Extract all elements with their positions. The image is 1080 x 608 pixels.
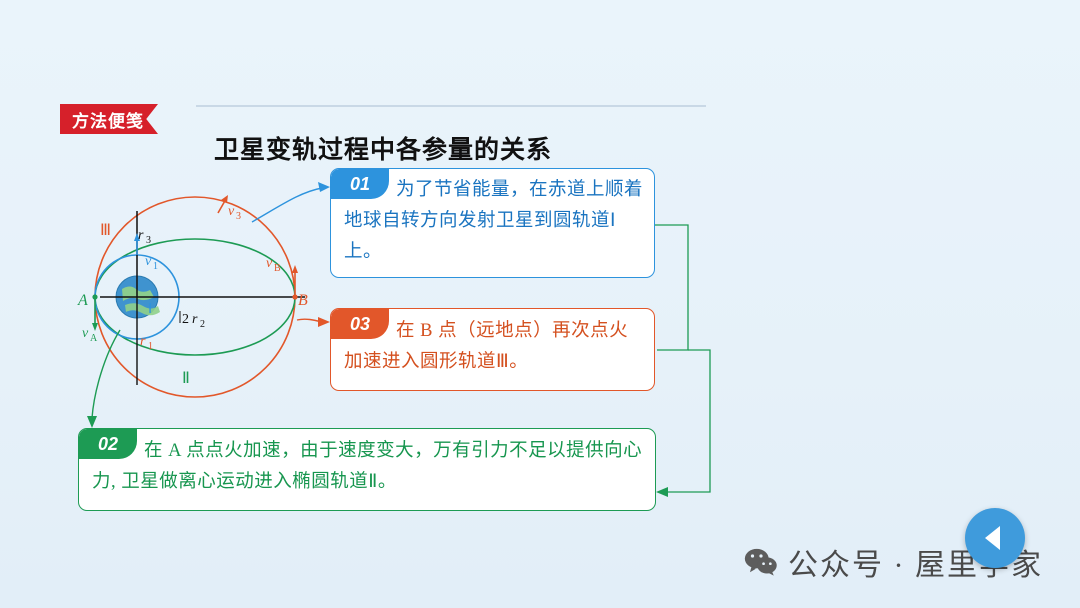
svg-text:Ⅰ: Ⅰ (148, 302, 152, 317)
svg-text:v: v (266, 256, 273, 271)
satellite-orbit-diagram: Ⅲ r 3 v 1 v 3 v B A B v A Ⅰ Ⅱ r 1 2 r 2 (70, 185, 350, 405)
callout-02: 02 在 A 点点火加速，由于速度变大，万有引力不足以提供向心力, 卫星做离心运… (78, 428, 656, 511)
callout-03-text: 在 B 点（远地点）再次点火加速进入圆形轨道Ⅲ。 (344, 316, 644, 378)
svg-text:1: 1 (153, 261, 158, 272)
wechat-icon (744, 547, 778, 577)
callout-01: 01 为了节省能量，在赤道上顺着地球自转方向发射卫星到圆轨道Ⅰ上。 (330, 168, 655, 278)
back-button[interactable] (965, 508, 1025, 568)
header-rule (196, 105, 706, 107)
svg-text:v: v (145, 254, 152, 269)
callout-01-text: 为了节省能量，在赤道上顺着地球自转方向发射卫星到圆轨道Ⅰ上。 (344, 175, 644, 268)
svg-text:Ⅲ: Ⅲ (100, 222, 111, 239)
svg-text:B: B (274, 263, 281, 274)
svg-text:1: 1 (148, 341, 153, 352)
svg-text:r: r (140, 334, 146, 349)
svg-text:2: 2 (200, 319, 205, 330)
svg-text:Ⅱ: Ⅱ (182, 370, 190, 387)
svg-text:v: v (82, 326, 89, 341)
svg-text:A: A (77, 292, 88, 309)
slide-page: 方法便笺 卫星变轨过程中各参量的关系 (0, 0, 1080, 608)
svg-text:v: v (228, 204, 235, 219)
svg-text:2: 2 (182, 312, 189, 327)
chevron-left-icon (985, 526, 1000, 550)
callout-03: 03 在 B 点（远地点）再次点火加速进入圆形轨道Ⅲ。 (330, 308, 655, 391)
page-title: 卫星变轨过程中各参量的关系 (214, 130, 552, 166)
callout-02-text: 在 A 点点火加速，由于速度变大，万有引力不足以提供向心力, 卫星做离心运动进入… (92, 436, 647, 498)
svg-text:A: A (90, 333, 98, 344)
svg-text:3: 3 (236, 211, 241, 222)
svg-text:3: 3 (146, 235, 151, 246)
svg-text:r: r (138, 228, 144, 243)
svg-text:B: B (298, 292, 308, 309)
svg-text:r: r (192, 312, 198, 327)
method-note-badge: 方法便笺 (60, 104, 158, 134)
